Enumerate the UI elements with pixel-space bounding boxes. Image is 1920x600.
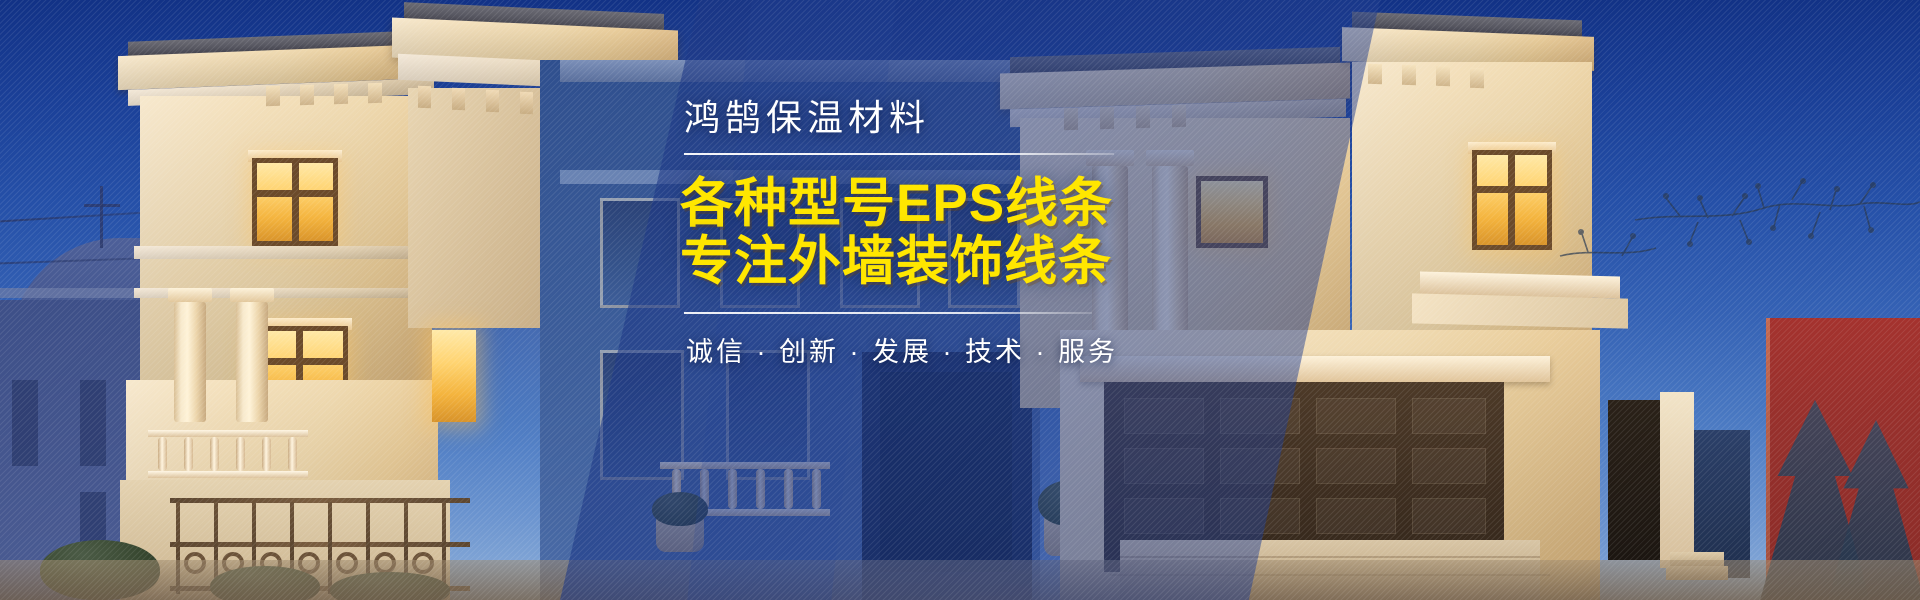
dentil-block (1368, 64, 1382, 85)
divider-top (684, 153, 1114, 155)
balustrade-rail (148, 471, 308, 478)
dentil-block (1436, 66, 1450, 87)
baluster (184, 437, 193, 471)
dentil-block (418, 86, 431, 109)
window-frame (252, 158, 338, 246)
dentil-block (1402, 65, 1416, 86)
garage-panel (1316, 448, 1396, 484)
headline-line-1: 各种型号EPS线条 (680, 175, 1240, 233)
dentil-block (520, 92, 533, 115)
lit-doorway (432, 330, 476, 422)
column (174, 302, 206, 422)
column (236, 302, 268, 422)
hero-banner: 鸿鹄保温材料 各种型号EPS线条 专注外墙装饰线条 诚信 · 创新 · 发展 ·… (0, 0, 1920, 600)
baluster (288, 437, 297, 471)
garage-panel (1316, 498, 1396, 534)
dentil-block (368, 83, 382, 104)
banner-text-block: 鸿鹄保温材料 各种型号EPS线条 专注外墙装饰线条 诚信 · 创新 · 发展 ·… (680, 96, 1240, 369)
baluster (158, 437, 167, 471)
tagline: 诚信 · 创新 · 发展 · 技术 · 服务 (680, 330, 1240, 369)
left-wing-string-course (134, 246, 434, 259)
divider-bottom (684, 312, 1092, 314)
headline-line-2: 专注外墙装饰线条 (680, 233, 1240, 291)
dentil-block (486, 90, 499, 113)
garage-panel (1412, 498, 1486, 534)
tree-branches (1360, 160, 1920, 440)
dentil-block (334, 84, 348, 105)
dentil-block (452, 88, 465, 111)
branch-svg (1360, 160, 1920, 440)
baluster (236, 437, 245, 471)
baluster (210, 437, 219, 471)
balustrade-rail (148, 430, 308, 437)
brand-name: 鸿鹄保温材料 (680, 96, 1240, 139)
baluster (262, 437, 271, 471)
dentil-block (266, 86, 280, 107)
garage-panel (1412, 448, 1486, 484)
dentil-block (300, 85, 314, 106)
headline: 各种型号EPS线条 专注外墙装饰线条 (680, 175, 1240, 292)
column-capital (230, 288, 274, 302)
column-capital (168, 288, 212, 302)
dentil-block (1470, 68, 1484, 89)
